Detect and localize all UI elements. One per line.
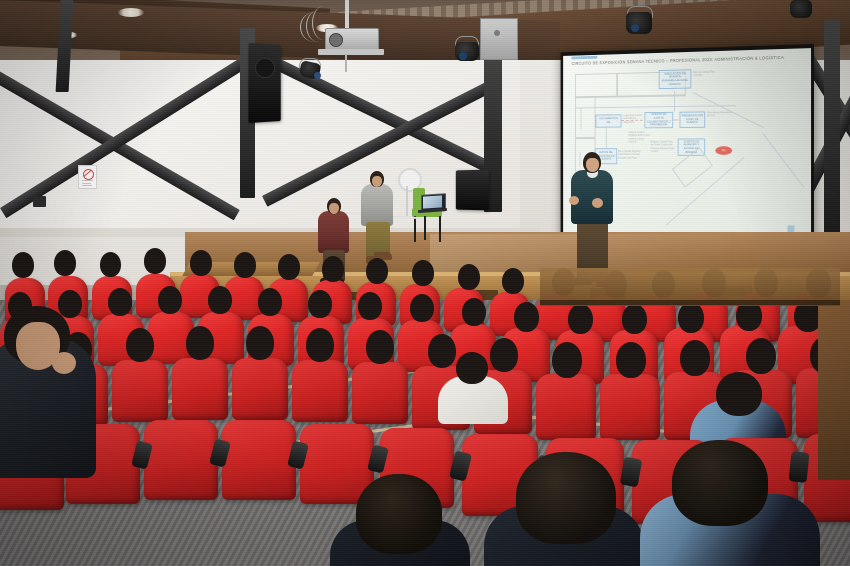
audience-head bbox=[412, 260, 434, 286]
audience-head bbox=[126, 328, 154, 362]
stage-person-maroon-face bbox=[329, 203, 339, 214]
audience-head bbox=[678, 302, 704, 333]
audience-head bbox=[186, 326, 214, 360]
wall-column-right bbox=[818, 300, 850, 480]
sign-text-line-3 bbox=[82, 185, 92, 186]
truss-gusset-plate bbox=[480, 18, 518, 60]
audience-head bbox=[366, 330, 394, 364]
audience-head bbox=[616, 342, 646, 378]
stage-person-maroon-torso bbox=[318, 211, 349, 253]
slide-box-0: SIMULACIÓN DE BUENOS ENSAMBLAJE NIVEL EN… bbox=[659, 69, 692, 89]
wainscot-trim bbox=[540, 300, 840, 305]
wall-speaker-left-cone bbox=[255, 58, 275, 78]
audience-head bbox=[552, 342, 582, 378]
slide-note-2: Plan directo Respuesta técnica bbox=[707, 111, 733, 118]
presenter-face bbox=[586, 158, 599, 172]
green-chair-leg-2 bbox=[439, 216, 441, 242]
slide-note-5: Plan Llenado Registro Total Proceso Cont… bbox=[618, 150, 641, 160]
audience-head bbox=[456, 352, 488, 384]
audience-head bbox=[358, 292, 382, 320]
seat[interactable] bbox=[172, 358, 228, 420]
seat[interactable] bbox=[600, 374, 660, 440]
truss-column-right bbox=[824, 20, 840, 235]
audience-head bbox=[190, 250, 212, 276]
slide-side-label-1: SUB-PROCESOS bbox=[579, 101, 582, 129]
sign-text-line-1 bbox=[82, 180, 93, 181]
slide-note-4: Registro Control Plan de Orden Control d… bbox=[651, 141, 676, 154]
audience-head bbox=[428, 334, 456, 368]
audience-head bbox=[306, 328, 334, 362]
floor-fan-pole bbox=[406, 186, 408, 216]
audience-head bbox=[458, 264, 480, 290]
audience-head bbox=[54, 250, 76, 276]
audience-head bbox=[680, 340, 710, 376]
slide-box-3: PRESENTACIÓN NIVEL DE PUESTO bbox=[679, 111, 705, 128]
stage-person-gray-torso bbox=[361, 184, 393, 226]
wall-outlet-left bbox=[33, 196, 46, 207]
seat-armrest bbox=[788, 451, 809, 483]
audience-head bbox=[234, 252, 256, 278]
slide-accent-tab bbox=[572, 56, 598, 60]
slide-title: CIRCUITO DE EXPOSICIÓN SEMANA TÉCNICO – … bbox=[572, 54, 806, 66]
audience-head bbox=[514, 302, 539, 332]
slide-note-0: Plan de trabajo Plan concreto bbox=[693, 70, 719, 77]
audience-head bbox=[158, 286, 182, 314]
seat[interactable] bbox=[222, 420, 296, 500]
audience-head bbox=[502, 268, 524, 294]
audience-head bbox=[462, 298, 486, 326]
stage-light-far-right bbox=[790, 0, 812, 18]
audience-head bbox=[322, 256, 344, 282]
stage-person-gray-face bbox=[372, 176, 382, 187]
audience-head bbox=[716, 372, 762, 416]
green-chair-leg-1 bbox=[414, 216, 416, 242]
slide-end-badge: Fin bbox=[715, 146, 732, 155]
laptop-display bbox=[423, 195, 442, 208]
stage-light-center-lens bbox=[459, 52, 467, 60]
audience-head bbox=[490, 338, 518, 372]
slide-connector-diag-right bbox=[762, 132, 804, 187]
audience-head bbox=[258, 288, 282, 316]
seat[interactable] bbox=[352, 362, 408, 424]
sign-text-line-2 bbox=[82, 183, 91, 184]
seat[interactable] bbox=[292, 360, 348, 422]
audience-head bbox=[410, 294, 434, 322]
audience-head bbox=[58, 290, 82, 318]
seat[interactable] bbox=[112, 360, 168, 422]
stage-light-right-lens bbox=[631, 24, 639, 32]
stage-light-left-lens bbox=[314, 72, 321, 79]
projector-mount-pole bbox=[345, 0, 349, 30]
audience-head-front-right bbox=[672, 440, 768, 526]
slide-connector-main bbox=[575, 105, 736, 108]
no-smoking-sign bbox=[78, 165, 97, 189]
audience-head-front-center-left bbox=[356, 474, 442, 554]
projector-bracket bbox=[318, 49, 384, 55]
projector-cable-3 bbox=[312, 6, 335, 40]
seat[interactable] bbox=[536, 374, 596, 440]
audience-head bbox=[366, 258, 388, 284]
slide-connector-dash-2 bbox=[673, 119, 678, 120]
wall-speaker-stage bbox=[456, 170, 489, 211]
projector-safety-chain bbox=[345, 54, 347, 72]
audience-head bbox=[746, 338, 776, 374]
slide-frame-top-divider bbox=[616, 73, 618, 97]
seat[interactable] bbox=[144, 420, 218, 500]
audience-head bbox=[246, 326, 274, 360]
truss-gusset-bolt bbox=[494, 30, 500, 36]
audience-head-front-center bbox=[516, 452, 616, 544]
slide-col-left-a bbox=[575, 96, 596, 139]
audience-hand-front-left bbox=[52, 352, 76, 374]
audience-head bbox=[12, 252, 34, 278]
audience-head bbox=[622, 304, 647, 334]
slide-side-label-2: PROCESOS bbox=[578, 145, 581, 167]
presenter-hand-right bbox=[592, 198, 603, 208]
auditorium-photo: CIRCUITO DE EXPOSICIÓN SEMANA TÉCNICO – … bbox=[0, 0, 850, 566]
green-chair-leg-3 bbox=[424, 216, 426, 240]
audience-head bbox=[568, 304, 593, 334]
audience-head bbox=[100, 252, 121, 277]
seat[interactable] bbox=[232, 358, 288, 420]
audience-head bbox=[144, 248, 166, 274]
audience-head bbox=[278, 254, 300, 280]
audience-head bbox=[108, 288, 132, 316]
audience-head bbox=[308, 290, 332, 318]
slide-note-3: Informe Control Registro final Control I… bbox=[629, 131, 652, 144]
recessed-downlight-1 bbox=[118, 8, 144, 17]
slide-connector-dash-1 bbox=[622, 120, 643, 121]
stage-light-right bbox=[626, 12, 652, 34]
wall-speaker-left bbox=[248, 43, 280, 123]
slide-box-1: DOCUMENTOS DE bbox=[595, 114, 621, 127]
presenter-hand-left bbox=[569, 196, 579, 205]
slide-box-2: CUENTA DE AJUSTE COLABORADOR O PROVEEDOR bbox=[644, 112, 673, 128]
slide-connector-vert-2 bbox=[674, 91, 675, 112]
audience-head bbox=[208, 286, 232, 314]
stage-light-center bbox=[455, 42, 479, 61]
slide-connector-vert-1 bbox=[606, 128, 607, 149]
